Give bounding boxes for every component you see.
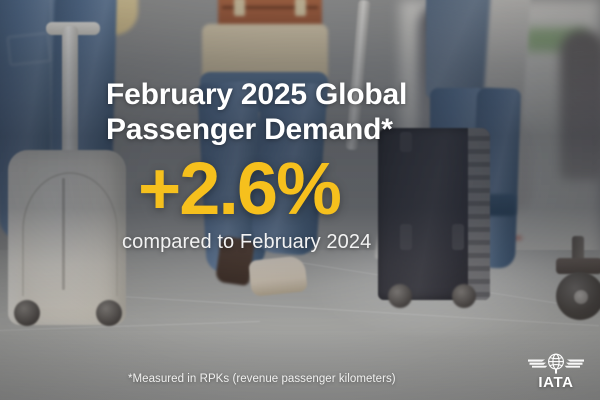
- comparison-text: compared to February 2024: [122, 231, 371, 254]
- iata-passenger-demand-poster: February 2025 Global Passenger Demand* +…: [0, 0, 600, 400]
- iata-wordmark: IATA: [528, 374, 584, 391]
- winged-globe-icon: [528, 352, 584, 376]
- footnote-text: *Measured in RPKs (revenue passenger kil…: [128, 373, 396, 385]
- statistic-value: +2.6%: [138, 152, 340, 226]
- poster-content: February 2025 Global Passenger Demand* +…: [0, 0, 600, 400]
- iata-logo: IATA: [528, 352, 584, 392]
- headline-line-1: February 2025 Global: [106, 78, 407, 111]
- headline-line-2: Passenger Demand*: [106, 113, 526, 148]
- headline: February 2025 Global Passenger Demand*: [106, 78, 526, 148]
